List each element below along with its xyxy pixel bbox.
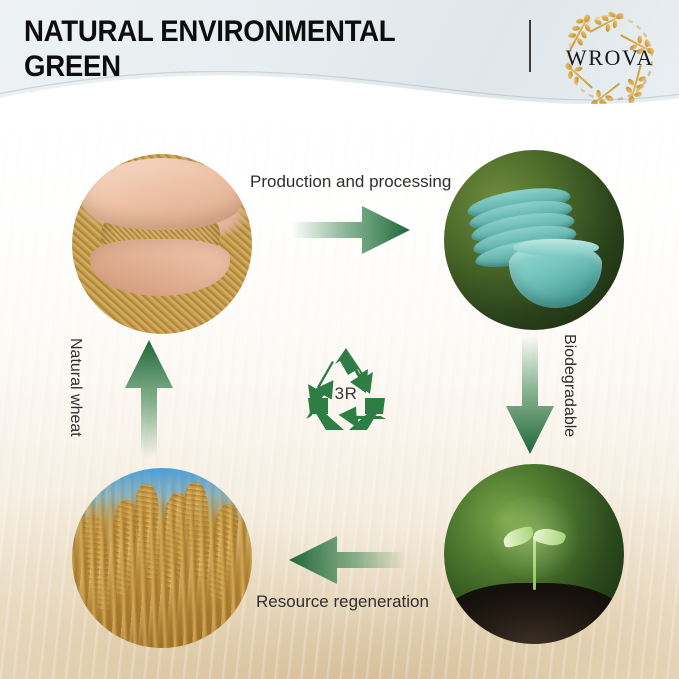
header-divider [529, 20, 531, 72]
arrow-left-regeneration [287, 533, 407, 587]
arrow-right-production [292, 203, 412, 257]
node-image-raw-material [72, 154, 252, 334]
node-image-new-growth [444, 464, 624, 644]
bowl-front [509, 244, 603, 309]
recycle-label: 3R [296, 384, 396, 404]
node-image-finished-product [444, 150, 624, 330]
step-label-resource-regeneration: Resource regeneration [256, 592, 429, 612]
soil-mound [444, 583, 624, 644]
step-label-biodegradable: Biodegradable [560, 334, 578, 437]
node-image-wheat-field [72, 468, 252, 648]
wheat-stalk-texture [72, 468, 252, 648]
header-wave-divider [0, 68, 679, 122]
recycle-symbol: 3R [296, 344, 396, 444]
step-label-natural-wheat: Natural wheat [66, 338, 84, 437]
infographic-poster: NATURAL ENVIRONMENTAL GREEN AND HEALTHY [0, 0, 679, 679]
header-band: NATURAL ENVIRONMENTAL GREEN AND HEALTHY [0, 0, 679, 122]
brand-name: WROVA [556, 45, 664, 71]
arrow-up-natural-wheat [122, 338, 176, 458]
hand-lower [90, 239, 230, 297]
seedling-stem [533, 536, 536, 590]
arrow-down-biodegradable [503, 336, 557, 456]
step-label-production-and-processing: Production and processing [250, 172, 451, 192]
